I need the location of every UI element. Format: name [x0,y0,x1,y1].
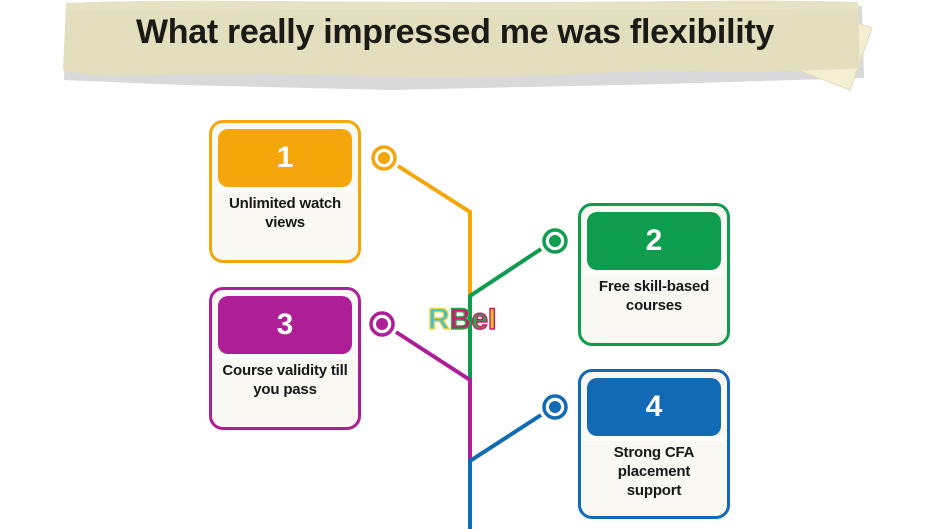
feature-card-3-body: Course validity till you pass [220,362,350,421]
logo-letter-i: I [488,305,496,335]
rbei-logo: RBeI [428,305,496,335]
feature-card-3[interactable]: 3 Course validity till you pass [209,287,361,430]
feature-card-1-number: 1 [277,143,294,173]
feature-card-2-number: 2 [646,226,663,256]
feature-card-2-header: 2 [587,212,721,270]
connector-line-3 [396,332,470,463]
feature-card-4-notch [584,436,724,441]
feature-card-4-number: 4 [646,392,663,422]
feature-card-4-label: Strong CFA placement support [589,444,719,500]
feature-card-3-header: 3 [218,296,352,354]
feature-card-3-notch [215,354,355,359]
feature-card-1[interactable]: 1 Unlimited watch views [209,120,361,263]
feature-card-1-body: Unlimited watch views [220,195,350,254]
logo-letter-r: R [428,305,450,335]
connector-line-1 [398,166,470,298]
connector-node-3-dot [376,318,388,330]
feature-card-3-label: Course validity till you pass [220,362,350,400]
feature-card-3-number: 3 [277,310,294,340]
feature-card-4[interactable]: 4 Strong CFA placement support [578,369,730,519]
connector-line-4 [470,415,541,529]
connector-node-4-dot [549,401,561,413]
feature-card-1-header: 1 [218,129,352,187]
feature-card-2-notch [584,270,724,275]
feature-card-2-body: Free skill-based courses [589,278,719,337]
feature-card-1-notch [215,187,355,192]
slide-canvas: What really impressed me was flexibility [0,0,940,529]
logo-letter-e: e [471,305,488,335]
feature-card-2[interactable]: 2 Free skill-based courses [578,203,730,346]
feature-card-2-label: Free skill-based courses [589,278,719,316]
feature-card-4-header: 4 [587,378,721,436]
connector-node-1-dot [378,152,390,164]
logo-letter-b: B [450,305,472,335]
connector-node-2-dot [549,235,561,247]
connector-diagram [0,0,940,529]
feature-card-4-body: Strong CFA placement support [589,444,719,510]
feature-card-1-label: Unlimited watch views [220,195,350,233]
